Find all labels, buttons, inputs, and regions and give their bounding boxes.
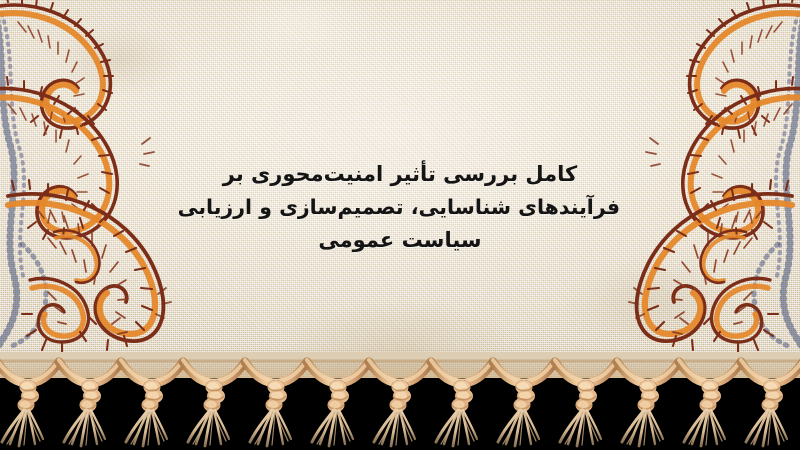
slide-canvas: کامل بررسی تأثیر امنیت‌محوری بر فرآیندها… — [0, 0, 800, 450]
title-line-3: سیاست عمومی — [180, 224, 620, 257]
slide-title: کامل بررسی تأثیر امنیت‌محوری بر فرآیندها… — [180, 158, 620, 257]
title-line-2: فرآیندهای شناسایی، تصمیم‌سازی و ارزیابی — [180, 191, 620, 224]
tassel-row — [0, 360, 800, 446]
knotted-tassel-fringe — [0, 352, 800, 450]
title-line-1: کامل بررسی تأثیر امنیت‌محوری بر — [180, 158, 620, 191]
